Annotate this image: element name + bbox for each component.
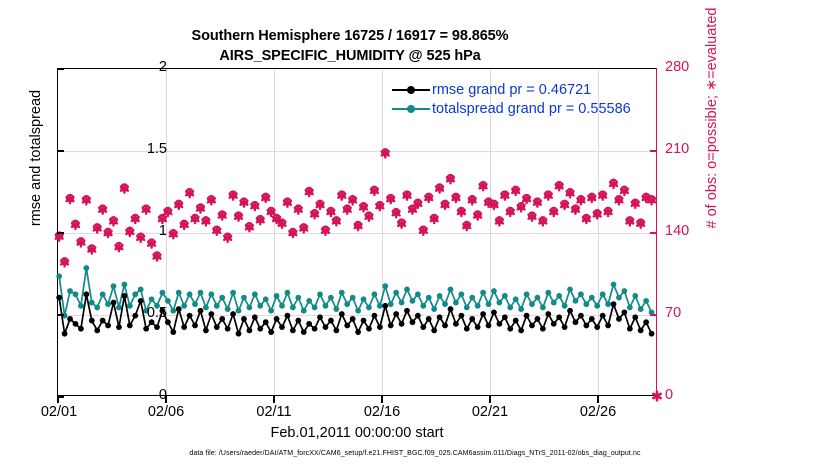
left-tick-label-0: 0	[107, 387, 167, 403]
x-tick-label-0201: 02/01	[41, 404, 77, 420]
right-tickmark-70	[650, 314, 657, 316]
chart-title-line-1: Southern Hemisphere 16725 / 16917 = 98.8…	[0, 26, 700, 46]
obs-evaluated-markers	[56, 150, 655, 267]
legend-marker-totalspread-icon	[392, 103, 430, 115]
right-tick-label-280: 280	[665, 59, 689, 75]
right-tickmark-210	[650, 150, 657, 152]
x-tickmark-0226	[597, 396, 599, 403]
left-tickmark-1p5	[57, 150, 64, 152]
legend-marker-rmse-icon	[392, 84, 430, 96]
chart-title-block: Southern Hemisphere 16725 / 16917 = 98.8…	[0, 26, 700, 66]
x-tickmark-0211	[273, 396, 275, 403]
obs-zero-anchor-marker	[653, 392, 660, 400]
left-tick-label-1: 1	[107, 223, 167, 239]
left-axis-label: rmse and totalspread	[28, 18, 44, 298]
x-tick-label-0226: 02/26	[580, 404, 616, 420]
left-tickmark-1	[57, 232, 64, 234]
legend-label-totalspread: totalspread grand pr = 0.55586	[432, 101, 631, 117]
x-tick-label-0216: 02/16	[364, 404, 400, 420]
x-tick-label-0221: 02/21	[472, 404, 508, 420]
left-tick-label-2: 2	[107, 59, 167, 75]
x-tickmark-0221	[489, 396, 491, 403]
chart-page: Southern Hemisphere 16725 / 16917 = 98.8…	[0, 0, 830, 470]
bottom-axis-label: Feb.01,2011 00:00:00 start	[57, 425, 657, 441]
left-tick-label-0p5: 0.5	[107, 305, 167, 321]
left-tickmark-0p5	[57, 314, 64, 316]
left-tickmark-2	[57, 68, 64, 70]
x-tick-label-0211: 02/11	[256, 404, 291, 420]
x-tickmark-0201	[57, 396, 59, 403]
left-tick-label-1p5: 1.5	[107, 141, 167, 157]
right-tickmark-140	[650, 232, 657, 234]
legend-item-rmse[interactable]: rmse grand pr = 0.46721	[392, 80, 631, 99]
right-tick-label-70: 70	[665, 305, 681, 321]
x-tickmark-0216	[381, 396, 383, 403]
right-tick-label-0: 0	[665, 387, 673, 403]
legend-item-totalspread[interactable]: totalspread grand pr = 0.55586	[392, 99, 631, 118]
x-tick-label-0206: 02/06	[148, 404, 184, 420]
chart-title-line-2: AIRS_SPECIFIC_HUMIDITY @ 525 hPa	[0, 46, 700, 66]
chart-legend: rmse grand pr = 0.46721 totalspread gran…	[392, 80, 631, 118]
right-axis-label: # of obs: o=possible; ∗=evaluated	[704, 0, 720, 258]
right-tick-label-210: 210	[665, 141, 689, 157]
x-tickmark-0206	[165, 396, 167, 403]
legend-label-rmse: rmse grand pr = 0.46721	[432, 82, 591, 98]
data-file-footer: data file: /Users/raeder/DAI/ATM_forcXX/…	[0, 450, 830, 457]
right-tick-label-140: 140	[665, 223, 689, 239]
